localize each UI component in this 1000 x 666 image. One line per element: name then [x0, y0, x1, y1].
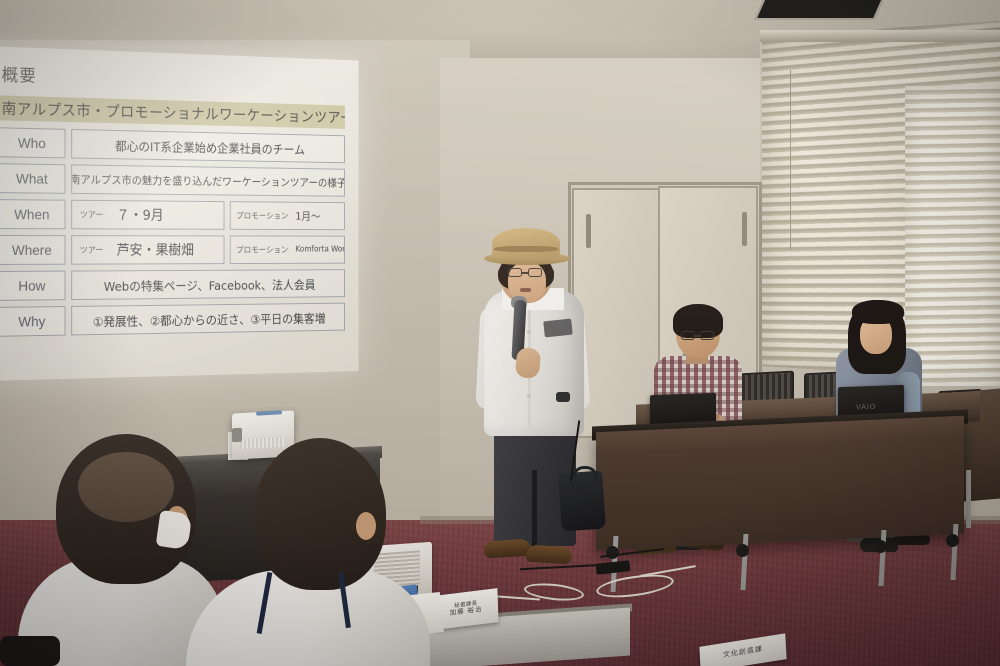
slide-row-key: Where — [0, 235, 65, 265]
slide-row-value: Webの特集ページ、Facebook、法人会員 — [71, 269, 345, 300]
audience-one-chair[interactable] — [0, 636, 60, 666]
slide-row-value-right: プロモーション Komforta Workation — [230, 235, 345, 264]
door-handle-left[interactable] — [586, 214, 591, 248]
panel-table — [596, 416, 964, 551]
slide-row: Where ツアー 芦安・果樹畑 プロモーション Komforta Workat… — [0, 235, 345, 265]
slide-row: What 南アルプス市の魅力を盛り込んだワーケーションツアーの様子 — [0, 163, 345, 196]
slide-value-text: 芦安・果樹畑 — [117, 240, 194, 259]
presenter-glasses-bridge — [522, 272, 528, 274]
slide-row-key: How — [0, 271, 65, 301]
slide-value-text: 1月〜 — [295, 208, 320, 223]
slide-value-tag: プロモーション — [236, 210, 288, 222]
panelist-one-glasses-bridge — [695, 335, 700, 337]
slide-value-text: Komforta Workation — [295, 245, 345, 254]
blind-cord — [790, 70, 791, 250]
audience-two-ear — [356, 512, 376, 540]
slide-row: Who 都心のIT系企業始め企業社員のチーム — [0, 127, 345, 163]
slide-row-value: 都心のIT系企業始め企業社員のチーム — [71, 129, 345, 163]
ceiling-vent — [754, 0, 886, 20]
projector-lens — [232, 428, 242, 443]
presenter-glasses — [528, 268, 542, 277]
slide-row: Why ①発展性、②都心からの近さ、③平日の集客増 — [0, 303, 345, 337]
presenter-hat-band — [494, 246, 558, 252]
slide-row-value: 南アルプス市の魅力を盛り込んだワーケーションツアーの様子 — [71, 164, 345, 196]
shoulder-bag — [558, 471, 606, 532]
presenter-pocket — [543, 319, 573, 338]
slide-row: When ツアー ７・9月 プロモーション 1月〜 — [0, 199, 345, 230]
panelist-one-glasses — [700, 331, 714, 340]
panelist-one-glasses — [681, 331, 695, 340]
slide-row-value: ①発展性、②都心からの近さ、③平日の集客増 — [71, 303, 345, 336]
slide-row-value-left: ツアー 芦安・果樹畑 — [71, 235, 224, 264]
slide-row-value-right: プロモーション 1月〜 — [230, 201, 345, 230]
slide-value-tag: ツアー — [80, 209, 104, 221]
side-table-leg — [966, 470, 971, 528]
projected-slide: 概要 南アルプス市・プロモーショナルワーケーションツアー Who 都心のIT系企… — [0, 46, 358, 381]
audience-one-scalp — [78, 452, 174, 522]
slide-value-tag: ツアー — [80, 244, 104, 256]
slide-value-tag: プロモーション — [236, 244, 288, 255]
panelist-two-fringe — [852, 300, 904, 324]
presenter-mouth — [520, 288, 531, 292]
presenter-hat — [492, 228, 560, 258]
window-blinds-secondary — [905, 86, 1000, 386]
slide-row-key: Who — [0, 127, 65, 158]
table-caster — [946, 534, 959, 547]
placard-role: 文化創造課 — [723, 646, 763, 661]
presenter-shirt-button — [527, 330, 531, 334]
blind-rail — [760, 30, 1000, 42]
slide-row-key: What — [0, 163, 65, 194]
slide-subtitle: 南アルプス市・プロモーショナルワーケーションツアー — [0, 95, 345, 128]
door-handle-right[interactable] — [742, 212, 747, 246]
presenter-glasses — [508, 268, 522, 277]
slide-row-value-left: ツアー ７・9月 — [71, 200, 224, 230]
table-caster — [874, 540, 887, 553]
table-caster — [736, 544, 749, 557]
slide-row: How Webの特集ページ、Facebook、法人会員 — [0, 269, 345, 301]
presentation-room-photo: 概要 南アルプス市・プロモーショナルワーケーションツアー Who 都心のIT系企… — [0, 0, 1000, 666]
slide-heading: 概要 — [2, 61, 349, 97]
table-caster — [606, 546, 619, 559]
presenter-wristwatch — [556, 392, 570, 402]
slide-value-text: ７・9月 — [117, 205, 164, 225]
slide-row-key: When — [0, 199, 65, 229]
presenter-shoe — [525, 544, 572, 564]
presenter-leg-gap — [532, 470, 537, 550]
presenter-shirt-button — [527, 394, 531, 398]
slide-row-key: Why — [0, 306, 65, 337]
laptop-brand-label: VAIO — [856, 404, 876, 412]
